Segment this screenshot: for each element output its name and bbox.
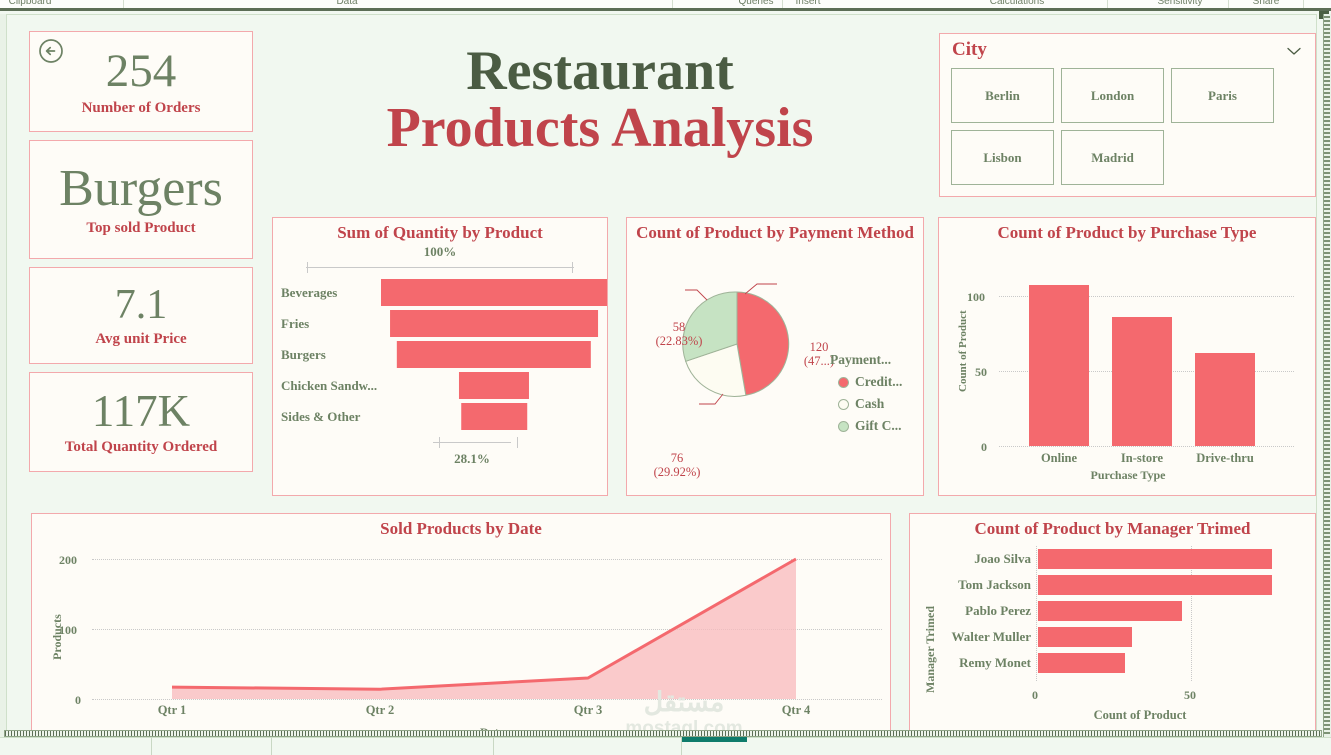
scrollbar-tick <box>1324 88 1330 90</box>
scrollbar-tick <box>1324 336 1330 338</box>
legend-item-gift-card[interactable]: Gift C... <box>838 418 902 434</box>
scrollbar-tick <box>1324 464 1330 466</box>
y-tick-100: 100 <box>967 290 985 305</box>
scrollbar-tick <box>1324 108 1330 110</box>
scrollbar-tick <box>1324 680 1330 682</box>
funnel-bar <box>381 279 607 306</box>
scrollbar-tick <box>1324 144 1330 146</box>
scrollbar-tick <box>1324 188 1330 190</box>
scrollbar-tick <box>1324 636 1330 638</box>
scrollbar-tick <box>1324 352 1330 354</box>
scrollbar-tick <box>1324 512 1330 514</box>
scrollbar-tick <box>1324 148 1330 150</box>
funnel-row-burgers[interactable]: Burgers <box>273 339 607 370</box>
bar-track <box>1038 624 1317 650</box>
slicer-item-paris[interactable]: Paris <box>1171 68 1274 123</box>
funnel-row-sides-other[interactable]: Sides & Other <box>273 401 607 432</box>
scrollbar-tick <box>1324 344 1330 346</box>
scrollbar-tick <box>1324 36 1330 38</box>
kpi-value: 254 <box>106 48 177 95</box>
scrollbar-tick <box>1324 100 1330 102</box>
chart-column-purchase-type[interactable]: Count of Product by Purchase Type Count … <box>938 217 1316 496</box>
scrollbar-tick <box>1324 376 1330 378</box>
funnel-row-beverages[interactable]: Beverages <box>273 277 607 308</box>
scrollbar-tick <box>1324 528 1330 530</box>
vertical-scrollbar[interactable] <box>1323 14 1331 737</box>
scrollbar-tick <box>1324 68 1330 70</box>
scrollbar-tick <box>1324 200 1330 202</box>
chart-title: Count of Product by Payment Method <box>627 218 923 242</box>
report-canvas: 254 Number of Orders Burgers Top sold Pr… <box>6 14 1317 737</box>
sheet-tab-3[interactable] <box>272 737 494 755</box>
scrollbar-tick <box>1324 284 1330 286</box>
funnel-category-label: Chicken Sandw... <box>273 378 381 394</box>
scrollbar-tick <box>1324 676 1330 678</box>
kpi-label: Avg unit Price <box>95 332 186 347</box>
scrollbar-tick <box>1324 580 1330 582</box>
scrollbar-tick <box>1324 212 1330 214</box>
scrollbar-tick <box>1324 312 1330 314</box>
funnel-category-label: Burgers <box>273 347 381 363</box>
scrollbar-tick <box>1324 632 1330 634</box>
x-tick-50: 50 <box>1184 688 1196 703</box>
scrollbar-tick <box>1324 592 1330 594</box>
scrollbar-tick <box>1324 660 1330 662</box>
y-axis-title: Count of Product <box>957 310 969 392</box>
scrollbar-tick <box>1324 236 1330 238</box>
scrollbar-tick <box>1324 428 1330 430</box>
kpi-value: 117K <box>92 389 190 434</box>
scrollbar-tick <box>1324 668 1330 670</box>
chart-area-sold-products-by-date[interactable]: Sold Products by Date Products 200 100 0… <box>31 513 891 745</box>
legend-swatch-cash <box>838 399 849 410</box>
bar-row-walter-muller[interactable]: Walter Muller <box>910 624 1317 650</box>
scrollbar-tick <box>1324 448 1330 450</box>
scrollbar-tick <box>1324 172 1330 174</box>
scrollbar-tick <box>1324 432 1330 434</box>
scrollbar-tick <box>1324 40 1330 42</box>
bar-track <box>1038 598 1317 624</box>
scrollbar-tick <box>1324 440 1330 442</box>
scrollbar-tick <box>1324 348 1330 350</box>
scrollbar-tick <box>1324 400 1330 402</box>
scrollbar-tick <box>1324 20 1330 22</box>
pie-plot-area: 58 (22.83%) 120 (47...) 76 (29.92%) Paym… <box>627 242 925 467</box>
scrollbar-tick <box>1324 128 1330 130</box>
funnel-bar <box>397 341 591 368</box>
scrollbar-tick <box>1324 604 1330 606</box>
chart-title: Sold Products by Date <box>32 514 890 538</box>
slicer-title: City <box>952 39 987 61</box>
kpi-value: 7.1 <box>115 284 168 326</box>
scrollbar-tick <box>1324 628 1330 630</box>
bar-row-tom-jackson[interactable]: Tom Jackson <box>910 572 1317 598</box>
bar-track <box>1038 546 1317 572</box>
scrollbar-tick <box>1324 396 1330 398</box>
scrollbar-tick <box>1324 708 1330 710</box>
scrollbar-tick <box>1324 452 1330 454</box>
scrollbar-tick <box>1324 196 1330 198</box>
ribbon-group-share[interactable]: Share <box>1206 0 1326 7</box>
scrollbar-tick <box>1324 204 1330 206</box>
scrollbar-tick <box>1324 84 1330 86</box>
scrollbar-tick <box>1324 288 1330 290</box>
scrollbar-tick <box>1324 364 1330 366</box>
scrollbar-tick <box>1324 340 1330 342</box>
x-tick-qtr2: Qtr 2 <box>350 703 410 718</box>
scrollbar-tick <box>1324 176 1330 178</box>
scrollbar-tick <box>1324 472 1330 474</box>
scrollbar-tick <box>1324 576 1330 578</box>
column-bar-in-store[interactable] <box>1112 317 1172 446</box>
slicer-item-madrid[interactable]: Madrid <box>1061 130 1164 185</box>
scrollbar-tick <box>1324 320 1330 322</box>
ribbon-group-insert[interactable]: Insert <box>748 0 868 7</box>
bar-fill <box>1038 575 1272 595</box>
scrollbar-tick <box>1324 712 1330 714</box>
chart-title: Count of Product by Purchase Type <box>939 218 1315 242</box>
bar-track <box>1038 650 1317 676</box>
column-bar-online[interactable] <box>1029 285 1089 446</box>
x-tick-drive-thru: Drive-thru <box>1192 451 1258 466</box>
scrollbar-tick <box>1324 208 1330 210</box>
legend-title: Payment... <box>830 352 902 368</box>
scrollbar-tick <box>1324 692 1330 694</box>
scrollbar-tick <box>1324 228 1330 230</box>
scrollbar-tick <box>1324 260 1330 262</box>
scrollbar-tick <box>1324 408 1330 410</box>
ribbon-group-data[interactable]: Data <box>287 0 407 7</box>
scrollbar-tick <box>1324 540 1330 542</box>
scrollbar-tick <box>1324 388 1330 390</box>
funnel-row-fries[interactable]: Fries <box>273 308 607 339</box>
scrollbar-tick <box>1324 232 1330 234</box>
bar-fill <box>1038 653 1125 673</box>
title-line-products-analysis: Products Analysis <box>275 100 925 157</box>
scrollbar-tick <box>1324 240 1330 242</box>
slicer-item-list: Berlin London Paris Lisbon Madrid <box>940 61 1315 185</box>
scrollbar-tick <box>1324 248 1330 250</box>
scrollbar-tick <box>1324 524 1330 526</box>
scrollbar-tick <box>1324 304 1330 306</box>
funnel-bar-track <box>381 339 607 370</box>
scrollbar-tick <box>1324 76 1330 78</box>
scrollbar-tick <box>1324 596 1330 598</box>
bar-fill <box>1038 549 1272 569</box>
bar-fill <box>1038 627 1132 647</box>
bar-row-remy-monet[interactable]: Remy Monet <box>910 650 1317 676</box>
bar-row-pablo-perez[interactable]: Pablo Perez <box>910 598 1317 624</box>
scrollbar-tick <box>1324 48 1330 50</box>
scrollbar-tick <box>1324 140 1330 142</box>
column-plot-area: Count of Product 100 50 0 Online In-stor… <box>939 242 1317 490</box>
ribbon-toolbar[interactable]: ClipboardDataQueriesInsertCalculationsSe… <box>0 0 1331 11</box>
funnel-bottom-percent: 28.1% <box>337 451 607 467</box>
legend-label: Gift C... <box>855 418 902 434</box>
sheet-tab-strip <box>0 737 1331 755</box>
scrollbar-tick <box>1324 56 1330 58</box>
scrollbar-tick <box>1324 584 1330 586</box>
funnel-category-label: Fries <box>273 316 381 332</box>
scrollbar-tick <box>1324 684 1330 686</box>
funnel-bar <box>459 372 529 399</box>
kpi-card-total-quantity-ordered[interactable]: 117K Total Quantity Ordered <box>29 372 253 472</box>
scrollbar-tick <box>1324 124 1330 126</box>
y-tick-50: 50 <box>975 365 987 380</box>
scrollbar-tick <box>1324 264 1330 266</box>
scrollbar-tick <box>1324 672 1330 674</box>
scrollbar-tick <box>1324 180 1330 182</box>
funnel-bar-track <box>381 401 607 432</box>
legend-swatch-credit <box>838 377 849 388</box>
bar-plot-area: Manager Trimed Joao Silva Tom Jackson <box>910 538 1317 743</box>
scrollbar-tick <box>1324 72 1330 74</box>
ribbon-separator-0 <box>123 0 124 9</box>
scrollbar-tick <box>1324 436 1330 438</box>
scrollbar-tick <box>1324 92 1330 94</box>
scrollbar-tick <box>1324 120 1330 122</box>
scrollbar-tick <box>1324 456 1330 458</box>
x-tick-qtr4: Qtr 4 <box>766 703 826 718</box>
sheet-tab-1[interactable] <box>0 737 152 755</box>
scrollbar-tick <box>1324 316 1330 318</box>
bar-track <box>1038 572 1317 598</box>
scrollbar-tick <box>1324 380 1330 382</box>
scrollbar-tick <box>1324 184 1330 186</box>
ribbon-separator-5 <box>1303 0 1304 9</box>
x-axis-title: Purchase Type <box>939 468 1317 483</box>
y-tick-0: 0 <box>981 440 987 455</box>
scrollbar-tick <box>1324 460 1330 462</box>
x-tick-0: 0 <box>1032 688 1038 703</box>
scrollbar-tick <box>1324 116 1330 118</box>
scrollbar-tick <box>1324 152 1330 154</box>
scrollbar-tick <box>1324 332 1330 334</box>
ribbon-group-calculations[interactable]: Calculations <box>957 0 1077 7</box>
scrollbar-tick <box>1324 652 1330 654</box>
scrollbar-tick <box>1324 700 1330 702</box>
legend-label: Credit... <box>855 374 902 390</box>
scrollbar-tick <box>1324 516 1330 518</box>
legend-item-credit[interactable]: Credit... <box>838 374 902 390</box>
scrollbar-tick <box>1324 716 1330 718</box>
scrollbar-tick <box>1324 520 1330 522</box>
sheet-tab-4[interactable] <box>494 737 682 755</box>
x-tick-in-store: In-store <box>1112 451 1172 466</box>
pie-legend: Payment... Credit... Cash Gift C... <box>830 352 902 434</box>
ribbon-group-clipboard[interactable]: Clipboard <box>0 0 90 7</box>
excel-dashboard-window: ClipboardDataQueriesInsertCalculationsSe… <box>0 0 1331 755</box>
funnel-bar <box>390 310 598 337</box>
funnel-bar <box>461 403 527 430</box>
scrollbar-tick <box>1324 468 1330 470</box>
bar-fill <box>1038 601 1182 621</box>
scrollbar-tick <box>1324 256 1330 258</box>
scrollbar-tick <box>1324 280 1330 282</box>
scrollbar-tick <box>1324 96 1330 98</box>
scrollbar-tick <box>1324 600 1330 602</box>
funnel-bar-track <box>381 277 607 308</box>
chart-pie-payment-method[interactable]: Count of Product by Payment Method 58 <box>626 217 924 496</box>
column-bar-drive-thru[interactable] <box>1195 353 1255 446</box>
scrollbar-tick <box>1324 244 1330 246</box>
scrollbar-tick <box>1324 508 1330 510</box>
ribbon-separator-1 <box>672 0 673 9</box>
scrollbar-tick <box>1324 424 1330 426</box>
scrollbar-tick <box>1324 688 1330 690</box>
scrollbar-tick <box>1324 608 1330 610</box>
legend-item-cash[interactable]: Cash <box>838 396 902 412</box>
scrollbar-tick <box>1324 588 1330 590</box>
scrollbar-tick <box>1324 620 1330 622</box>
scrollbar-tick <box>1324 616 1330 618</box>
scrollbar-tick <box>1324 224 1330 226</box>
scrollbar-tick <box>1324 44 1330 46</box>
scrollbar-tick <box>1324 308 1330 310</box>
kpi-card-top-sold-product[interactable]: Burgers Top sold Product <box>29 140 253 259</box>
scrollbar-tick <box>1324 132 1330 134</box>
bar-category-label: Tom Jackson <box>910 577 1038 593</box>
legend-label: Cash <box>855 396 884 412</box>
scrollbar-tick <box>1324 160 1330 162</box>
scrollbar-tick <box>1324 552 1330 554</box>
scrollbar-tick <box>1324 324 1330 326</box>
ribbon-separator-2 <box>782 0 783 9</box>
funnel-bar-track <box>381 370 607 401</box>
sheet-tab-2[interactable] <box>152 737 272 755</box>
scrollbar-tick <box>1324 728 1330 730</box>
scrollbar-tick <box>1324 420 1330 422</box>
scrollbar-tick <box>1324 356 1330 358</box>
scrollbar-tick <box>1324 492 1330 494</box>
scrollbar-tick <box>1324 556 1330 558</box>
slicer-item-berlin[interactable]: Berlin <box>951 68 1054 123</box>
scrollbar-tick <box>1324 560 1330 562</box>
scrollbar-tick <box>1324 372 1330 374</box>
scrollbar-tick <box>1324 404 1330 406</box>
scrollbar-tick <box>1324 480 1330 482</box>
funnel-top-gauge <box>273 262 607 274</box>
scrollbar-tick <box>1324 724 1330 726</box>
scrollbar-tick <box>1324 156 1330 158</box>
scrollbar-tick <box>1324 168 1330 170</box>
chart-funnel-quantity-by-product[interactable]: Sum of Quantity by Product 100% Beverage… <box>272 217 608 496</box>
scrollbar-tick <box>1324 536 1330 538</box>
scrollbar-tick <box>1324 368 1330 370</box>
scrollbar-tick <box>1324 612 1330 614</box>
scrollbar-tick <box>1324 360 1330 362</box>
scrollbar-tick <box>1324 720 1330 722</box>
back-arrow-circle-icon[interactable] <box>38 38 64 64</box>
x-tick-online: Online <box>1029 451 1089 466</box>
pie-data-label-gift-card: 58 (22.83%) <box>639 320 719 348</box>
scrollbar-tick <box>1324 64 1330 66</box>
scrollbar-tick <box>1324 704 1330 706</box>
slicer-header: City <box>940 34 1315 61</box>
slicer-item-lisbon[interactable]: Lisbon <box>951 130 1054 185</box>
scrollbar-tick <box>1324 192 1330 194</box>
page-title: Restaurant Products Analysis <box>275 43 925 157</box>
scrollbar-tick <box>1324 488 1330 490</box>
scrollbar-tick <box>1324 216 1330 218</box>
kpi-label: Top sold Product <box>86 221 195 236</box>
scrollbar-tick <box>1324 416 1330 418</box>
kpi-label: Number of Orders <box>82 101 201 116</box>
scrollbar-tick <box>1324 328 1330 330</box>
scrollbar-tick <box>1324 564 1330 566</box>
scrollbar-tick <box>1324 16 1330 18</box>
scrollbar-tick <box>1324 268 1330 270</box>
ribbon-separator-4 <box>1228 0 1229 9</box>
funnel-category-label: Sides & Other <box>273 409 381 425</box>
scrollbar-tick <box>1324 500 1330 502</box>
scrollbar-tick <box>1324 136 1330 138</box>
funnel-top-percent: 100% <box>273 244 607 260</box>
scrollbar-tick <box>1324 272 1330 274</box>
scrollbar-tick <box>1324 484 1330 486</box>
scrollbar-tick <box>1324 384 1330 386</box>
kpi-label: Total Quantity Ordered <box>65 440 218 455</box>
legend-swatch-gift-card <box>838 421 849 432</box>
scrollbar-tick <box>1324 648 1330 650</box>
funnel-row-chicken-sandwich[interactable]: Chicken Sandw... <box>273 370 607 401</box>
scrollbar-tick <box>1324 24 1330 26</box>
ribbon-separator-3 <box>1107 0 1108 9</box>
scrollbar-tick <box>1324 52 1330 54</box>
funnel-bottom-gauge <box>273 437 607 449</box>
slicer-city[interactable]: City Berlin London Paris Lisbon Madrid <box>939 33 1316 197</box>
scrollbar-tick <box>1324 80 1330 82</box>
scrollbar-tick <box>1324 444 1330 446</box>
scrollbar-tick <box>1324 164 1330 166</box>
scrollbar-tick <box>1324 504 1330 506</box>
gridline-0 <box>999 446 1294 447</box>
chart-bar-manager-trimed[interactable]: Count of Product by Manager Trimed Manag… <box>909 513 1316 745</box>
scrollbar-tick <box>1324 544 1330 546</box>
kpi-value: Burgers <box>59 163 223 215</box>
pie-data-label-cash: 76 (29.92%) <box>635 451 719 479</box>
scrollbar-tick <box>1324 640 1330 642</box>
chart-title: Count of Product by Manager Trimed <box>910 514 1315 538</box>
funnel-bar-track <box>381 308 607 339</box>
scrollbar-tick <box>1324 112 1330 114</box>
x-tick-qtr1: Qtr 1 <box>142 703 202 718</box>
bar-row-joao-silva[interactable]: Joao Silva <box>910 546 1317 572</box>
scrollbar-tick <box>1324 664 1330 666</box>
scrollbar-tick <box>1324 104 1330 106</box>
horizontal-scrollbar[interactable] <box>4 730 1322 737</box>
chevron-down-icon[interactable] <box>1285 44 1303 56</box>
scrollbar-tick <box>1324 296 1330 298</box>
scrollbar-tick <box>1324 568 1330 570</box>
x-tick-qtr3: Qtr 3 <box>558 703 618 718</box>
scrollbar-tick <box>1324 412 1330 414</box>
bar-category-label: Pablo Perez <box>910 603 1038 619</box>
kpi-card-avg-unit-price[interactable]: 7.1 Avg unit Price <box>29 267 253 364</box>
bar-category-label: Walter Muller <box>910 629 1038 645</box>
funnel-category-label: Beverages <box>273 285 381 301</box>
bar-category-label: Remy Monet <box>910 655 1038 671</box>
scrollbar-tick <box>1324 732 1330 734</box>
slicer-item-london[interactable]: London <box>1061 68 1164 123</box>
scrollbar-tick <box>1324 220 1330 222</box>
scrollbar-tick <box>1324 656 1330 658</box>
bar-category-label: Joao Silva <box>910 551 1038 567</box>
title-line-restaurant: Restaurant <box>275 43 925 100</box>
scrollbar-tick <box>1324 292 1330 294</box>
sheet-tab-active[interactable] <box>682 737 747 742</box>
scrollbar-tick <box>1324 300 1330 302</box>
